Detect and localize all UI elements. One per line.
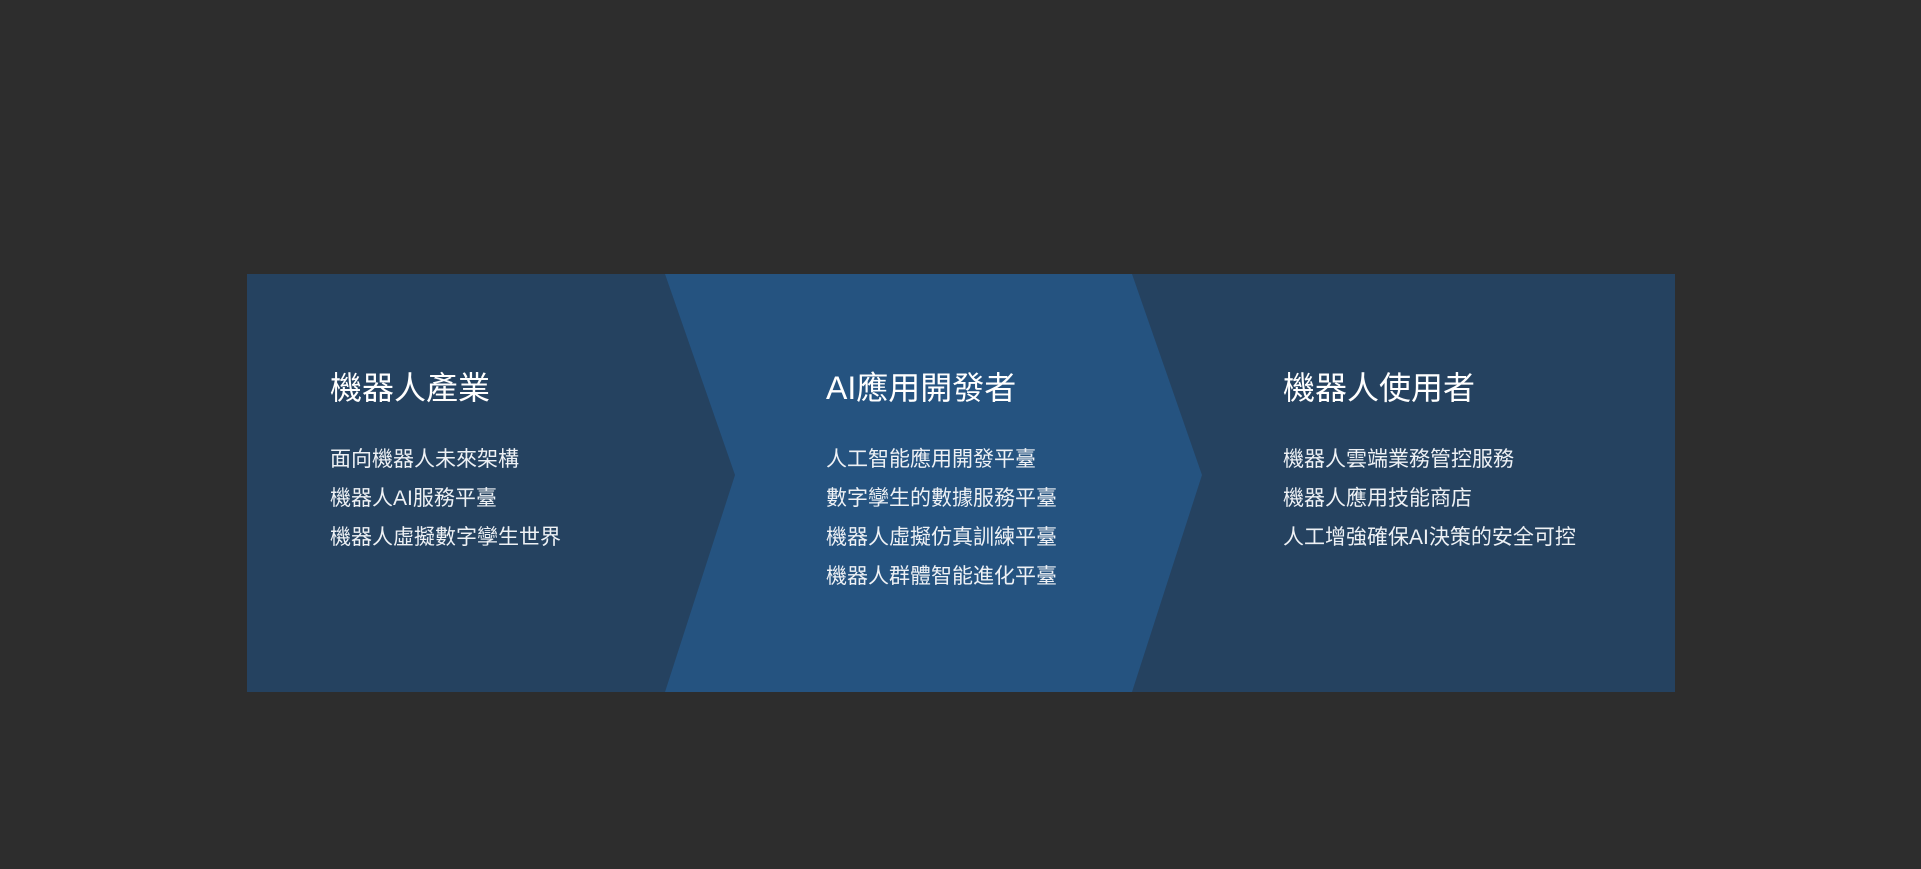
list-item: 人工智能應用開發平臺 [826, 440, 1057, 479]
column-item-list: 人工智能應用開發平臺 數字孿生的數據服務平臺 機器人虛擬仿真訓練平臺 機器人群體… [826, 440, 1057, 596]
list-item: 機器人群體智能進化平臺 [826, 557, 1057, 596]
list-item: 機器人雲端業務管控服務 [1283, 440, 1576, 479]
column-robot-industry: 機器人產業 面向機器人未來架構 機器人AI服務平臺 機器人虛擬數字孿生世界 [330, 274, 760, 692]
column-ai-app-developer: AI應用開發者 人工智能應用開發平臺 數字孿生的數據服務平臺 機器人虛擬仿真訓練… [826, 274, 1256, 692]
list-item: 人工增強確保AI決策的安全可控 [1283, 518, 1576, 557]
column-item-list: 機器人雲端業務管控服務 機器人應用技能商店 人工增強確保AI決策的安全可控 [1283, 440, 1576, 557]
column-title: 機器人產業 [330, 368, 490, 408]
list-item: 機器人AI服務平臺 [330, 479, 561, 518]
column-item-list: 面向機器人未來架構 機器人AI服務平臺 機器人虛擬數字孿生世界 [330, 440, 561, 557]
column-title: AI應用開發者 [826, 368, 1016, 408]
list-item: 機器人虛擬仿真訓練平臺 [826, 518, 1057, 557]
list-item: 機器人虛擬數字孿生世界 [330, 518, 561, 557]
column-robot-user: 機器人使用者 機器人雲端業務管控服務 機器人應用技能商店 人工增強確保AI決策的… [1283, 274, 1675, 692]
list-item: 面向機器人未來架構 [330, 440, 561, 479]
chevron-banner: 機器人產業 面向機器人未來架構 機器人AI服務平臺 機器人虛擬數字孿生世界 AI… [247, 274, 1675, 692]
column-title: 機器人使用者 [1283, 368, 1475, 408]
list-item: 機器人應用技能商店 [1283, 479, 1576, 518]
list-item: 數字孿生的數據服務平臺 [826, 479, 1057, 518]
